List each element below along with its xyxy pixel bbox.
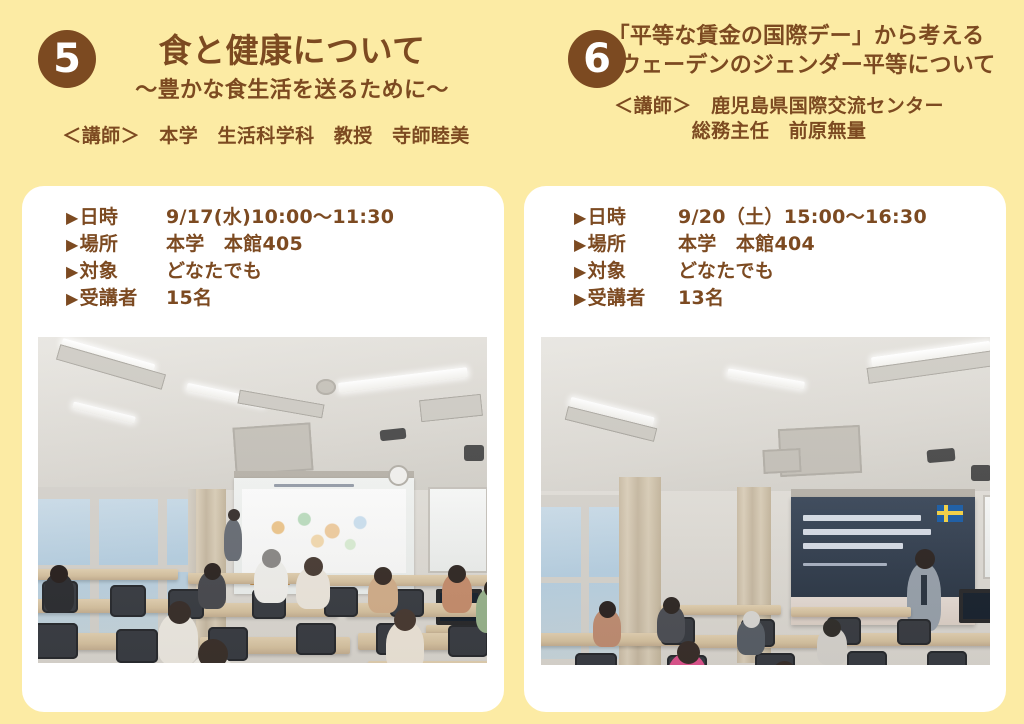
info-label-text: 場所 [80, 233, 119, 255]
session-6-info-list: ▶日時 9/20（土）15:00～16:30 ▶場所 本学 本館404 ▶対象 … [574, 204, 927, 312]
info-value-participants: 15名 [166, 285, 212, 311]
info-label-text: 受講者 [80, 287, 138, 309]
caret-icon: ▶ [66, 289, 79, 308]
info-value-audience: どなたでも [678, 258, 774, 284]
info-label-audience: ▶対象 [574, 258, 678, 285]
info-row-place: ▶場所 本学 本館404 [574, 231, 927, 258]
info-label-text: 対象 [588, 260, 627, 282]
caret-icon: ▶ [574, 262, 587, 281]
session-card-6: 6 「平等な賃金の国際デー」から考える スウェーデンのジェンダー平等について ＜… [524, 0, 1006, 724]
info-label-participants: ▶受講者 [574, 285, 678, 312]
info-value-datetime: 9/20（土）15:00～16:30 [678, 204, 927, 230]
info-label-text: 対象 [80, 260, 119, 282]
caret-icon: ▶ [574, 289, 587, 308]
caret-icon: ▶ [66, 208, 79, 227]
session-6-card: ▶日時 9/20（土）15:00～16:30 ▶場所 本学 本館404 ▶対象 … [524, 186, 1006, 712]
info-label-text: 日時 [588, 206, 627, 228]
session-5-card: ▶日時 9/17(水)10:00～11:30 ▶場所 本学 本館405 ▶対象 … [22, 186, 504, 712]
session-6-header: 6 「平等な賃金の国際デー」から考える スウェーデンのジェンダー平等について ＜… [524, 0, 1006, 170]
info-row-audience: ▶対象 どなたでも [574, 258, 927, 285]
info-row-participants: ▶受講者 15名 [66, 285, 394, 312]
session-6-title-line-1: 「平等な賃金の国際デー」から考える [586, 22, 1006, 51]
session-number-badge-6: 6 [568, 30, 626, 88]
info-row-datetime: ▶日時 9/17(水)10:00～11:30 [66, 204, 394, 231]
info-label-place: ▶場所 [66, 231, 166, 258]
caret-icon: ▶ [574, 208, 587, 227]
caret-icon: ▶ [66, 262, 79, 281]
info-label-datetime: ▶日時 [574, 204, 678, 231]
info-value-datetime: 9/17(水)10:00～11:30 [166, 204, 394, 230]
info-label-place: ▶場所 [574, 231, 678, 258]
poster-page: 5 食と健康について ～豊かな食生活を送るために～ ＜講師＞ 本学 生活科学科 … [0, 0, 1024, 724]
caret-icon: ▶ [66, 235, 79, 254]
session-6-lecturer-line-1: ＜講師＞ 鹿児島県国際交流センター [552, 94, 1006, 119]
session-card-5: 5 食と健康について ～豊かな食生活を送るために～ ＜講師＞ 本学 生活科学科 … [22, 0, 504, 724]
session-6-lecturer-line-2: 総務主任 前原無量 [552, 119, 1006, 144]
session-5-header: 5 食と健康について ～豊かな食生活を送るために～ ＜講師＞ 本学 生活科学科 … [22, 0, 504, 170]
info-row-audience: ▶対象 どなたでも [66, 258, 394, 285]
info-label-text: 場所 [588, 233, 627, 255]
info-label-text: 日時 [80, 206, 119, 228]
session-6-lecturer: ＜講師＞ 鹿児島県国際交流センター 総務主任 前原無量 [524, 94, 1006, 144]
caret-icon: ▶ [574, 235, 587, 254]
info-label-text: 受講者 [588, 287, 646, 309]
session-5-title: 食と健康について [80, 32, 504, 71]
info-value-place: 本学 本館405 [166, 231, 303, 257]
session-5-lecturer: ＜講師＞ 本学 生活科学科 教授 寺師睦美 [22, 124, 504, 149]
info-row-participants: ▶受講者 13名 [574, 285, 927, 312]
session-5-photo [38, 337, 487, 663]
info-label-datetime: ▶日時 [66, 204, 166, 231]
info-label-participants: ▶受講者 [66, 285, 166, 312]
info-value-participants: 13名 [678, 285, 724, 311]
info-row-datetime: ▶日時 9/20（土）15:00～16:30 [574, 204, 927, 231]
session-6-title-line-2: スウェーデンのジェンダー平等について [586, 51, 1006, 80]
session-5-subtitle: ～豊かな食生活を送るために～ [80, 77, 504, 106]
session-5-info-list: ▶日時 9/17(水)10:00～11:30 ▶場所 本学 本館405 ▶対象 … [66, 204, 394, 312]
info-value-place: 本学 本館404 [678, 231, 815, 257]
info-row-place: ▶場所 本学 本館405 [66, 231, 394, 258]
info-value-audience: どなたでも [166, 258, 262, 284]
session-number-badge-5: 5 [38, 30, 96, 88]
session-6-photo [541, 337, 990, 665]
info-label-audience: ▶対象 [66, 258, 166, 285]
